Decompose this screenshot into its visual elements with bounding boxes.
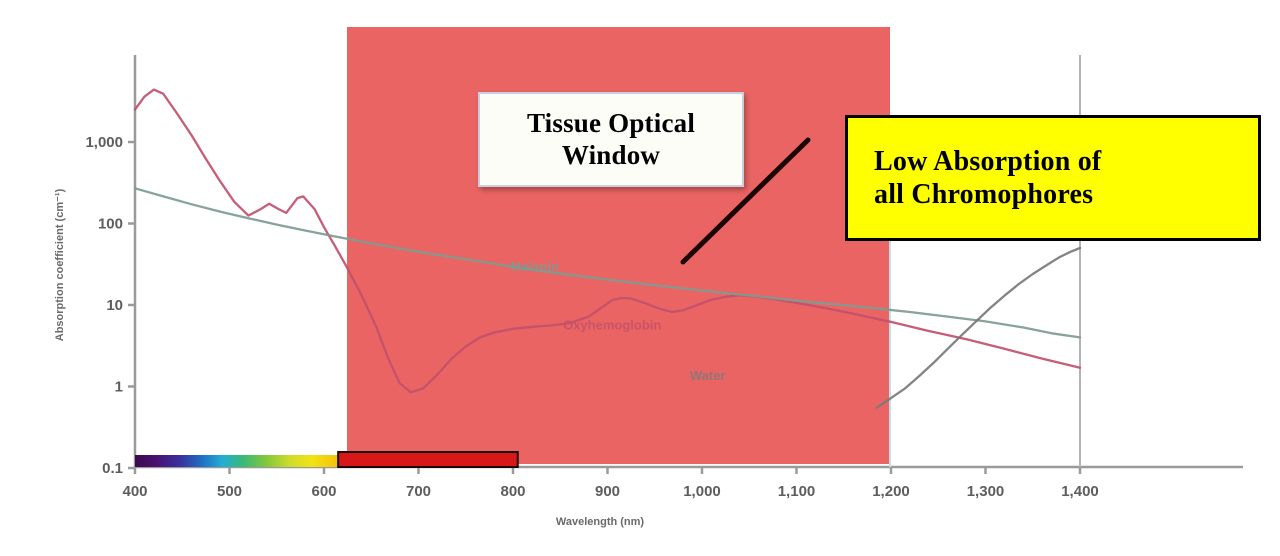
x-tick-label: 700: [406, 483, 431, 500]
y-tick-label: 10: [106, 297, 123, 314]
series-label-melanin: Melanin: [511, 259, 559, 274]
series-label-water: Water: [690, 368, 726, 383]
y-tick-label: 1,000: [85, 134, 123, 151]
x-tick-label: 1,200: [872, 483, 910, 500]
low-absorption-callout: Low Absorption of all Chromophores: [845, 115, 1261, 241]
x-tick-label: 400: [122, 483, 147, 500]
absorption-spectra-chart: 0.11101001,0004005006007008009001,0001,1…: [0, 0, 1280, 556]
y-tick-label: 0.1: [102, 460, 123, 477]
x-tick-label: 1,000: [683, 483, 721, 500]
low-absorption-line-2: all Chromophores: [874, 178, 1258, 211]
near-infrared-bar: [338, 452, 518, 467]
y-tick-label: 1: [115, 379, 123, 396]
x-tick-label: 900: [595, 483, 620, 500]
tissue-window-line-2: Window: [527, 140, 695, 172]
x-tick-label: 600: [311, 483, 336, 500]
x-tick-label: 1,400: [1061, 483, 1099, 500]
series-line-water: [877, 248, 1080, 408]
x-tick-label: 1,300: [967, 483, 1005, 500]
low-absorption-line-1: Low Absorption of: [874, 145, 1258, 178]
tissue-window-line-1: Tissue Optical: [527, 108, 695, 140]
visible-spectrum-bar: [135, 455, 338, 467]
y-tick-label: 100: [98, 216, 123, 233]
series-label-oxyhemoglobin: Oxyhemoglobin: [563, 318, 661, 333]
tissue-optical-window-callout: Tissue Optical Window: [478, 92, 744, 187]
x-tick-label: 800: [500, 483, 525, 500]
x-tick-label: 500: [217, 483, 242, 500]
x-tick-label: 1,100: [778, 483, 816, 500]
chart-stage: 0.11101001,0004005006007008009001,0001,1…: [0, 0, 1280, 556]
x-axis-title: Wavelength (nm): [556, 516, 645, 528]
y-axis-title: Absorption coefficient (cm⁻¹): [54, 188, 66, 341]
